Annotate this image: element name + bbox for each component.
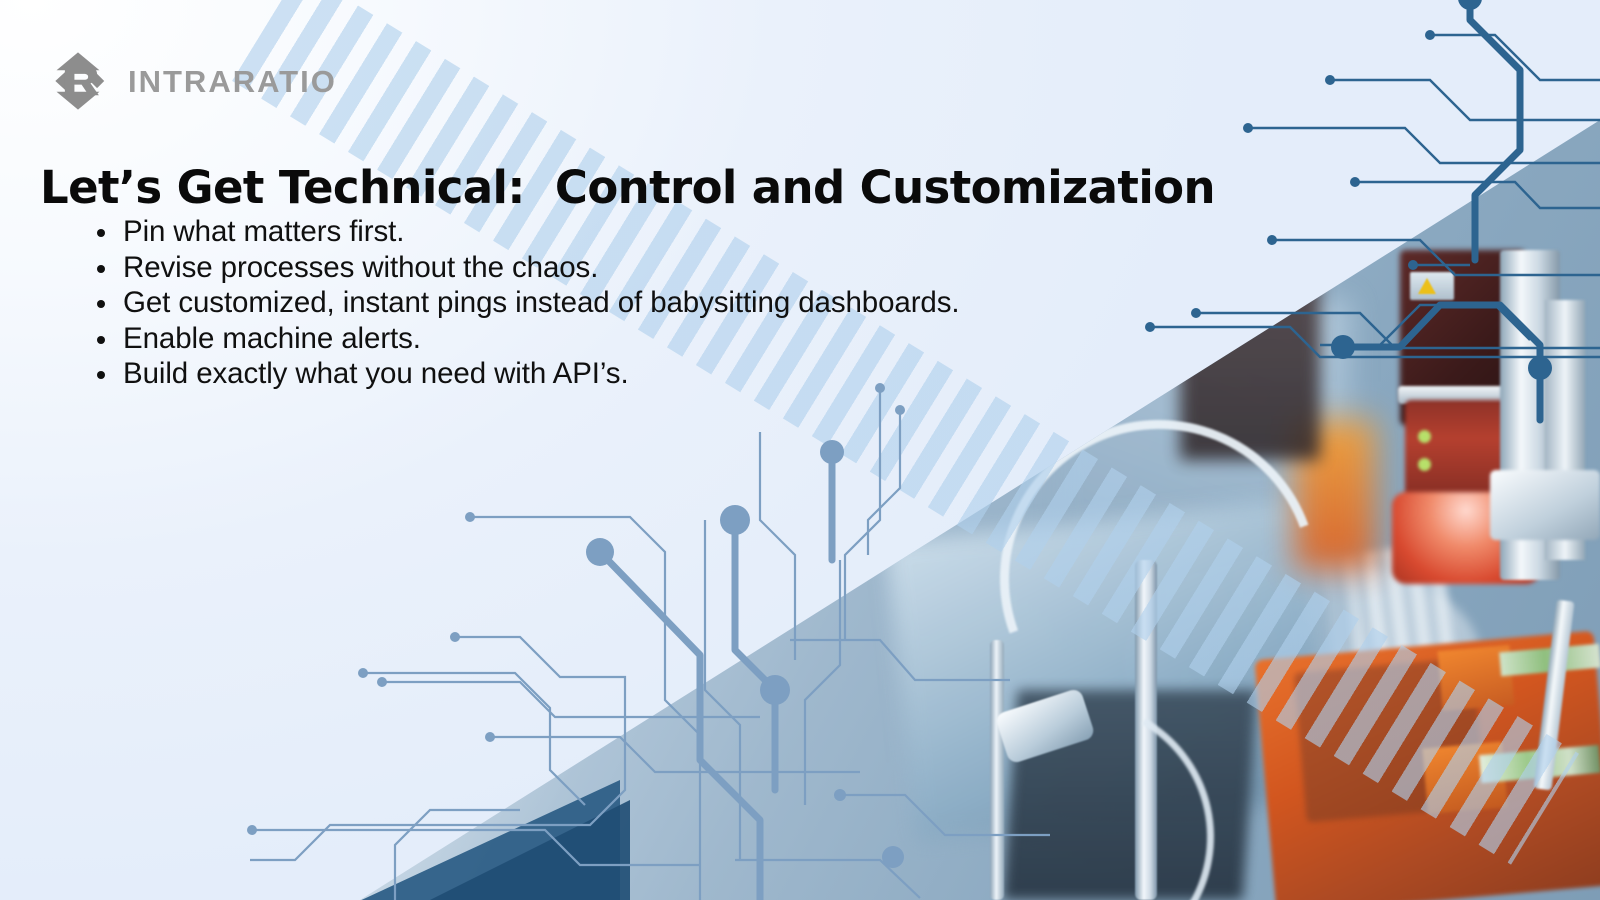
slide-canvas: INTRARATIO Let’s Get Technical: Control …	[0, 0, 1600, 900]
feature-bullet-list: Pin what matters first. Revise processes…	[88, 214, 959, 392]
intraratio-diamond-logo-icon	[42, 50, 114, 112]
brand-logo[interactable]: INTRARATIO	[42, 50, 337, 112]
list-item: Build exactly what you need with API’s.	[88, 356, 959, 392]
list-item: Enable machine alerts.	[88, 321, 959, 357]
page-title: Let’s Get Technical: Control and Customi…	[40, 161, 1215, 214]
brand-wordmark: INTRARATIO	[128, 66, 337, 97]
list-item: Revise processes without the chaos.	[88, 250, 959, 286]
machine-photo	[0, 0, 1600, 900]
list-item: Get customized, instant pings instead of…	[88, 285, 959, 321]
list-item: Pin what matters first.	[88, 214, 959, 250]
